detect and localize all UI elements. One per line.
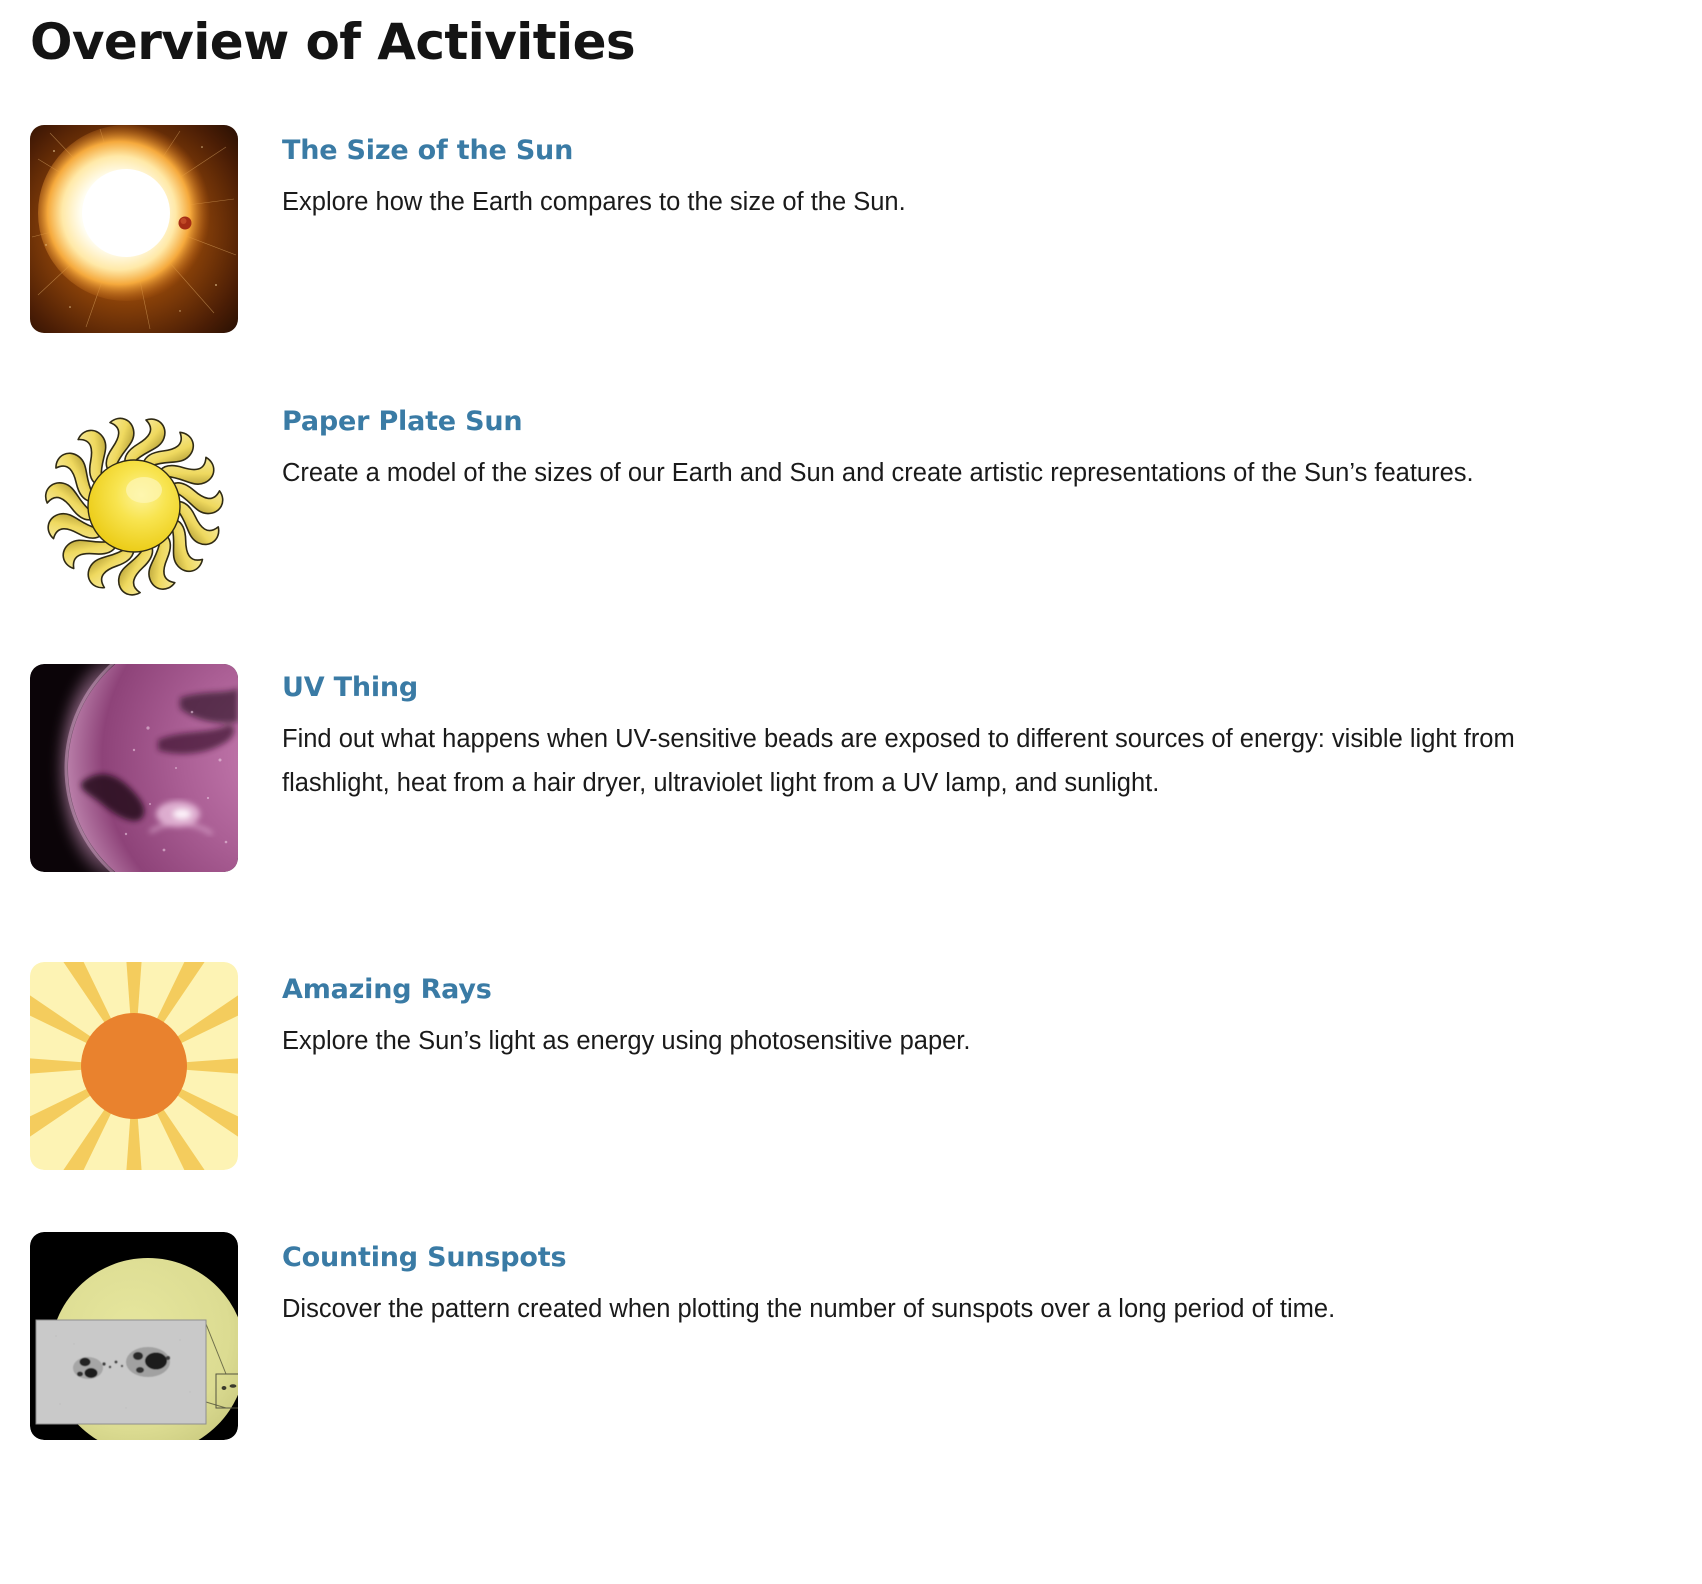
clipart-sun-with-wavy-rays-icon[interactable] xyxy=(30,394,238,602)
activity-title-link[interactable]: Paper Plate Sun xyxy=(282,406,1522,438)
activity-text-cell: Amazing Rays Explore the Sun’s light as … xyxy=(282,962,1702,1064)
activity-thumbnail-cell xyxy=(30,125,282,333)
activity-thumbnail-cell xyxy=(30,664,282,872)
activity-title-link[interactable]: UV Thing xyxy=(282,672,1522,704)
activity-text-cell: Paper Plate Sun Create a model of the si… xyxy=(282,394,1702,496)
activity-description: Explore how the Earth compares to the si… xyxy=(282,181,1522,225)
ultraviolet-sun-limb-photo-icon[interactable] xyxy=(30,664,238,872)
activities-overview-page: Overview of Activities xyxy=(0,0,1702,1584)
sunspots-with-magnified-inset-photo-icon[interactable] xyxy=(30,1232,238,1440)
activity-title-link[interactable]: Counting Sunspots xyxy=(282,1242,1522,1274)
activity-title-link[interactable]: Amazing Rays xyxy=(282,974,1522,1006)
flat-sunburst-illustration-icon[interactable] xyxy=(30,962,238,1170)
activity-text-cell: The Size of the Sun Explore how the Eart… xyxy=(282,125,1702,225)
activity-item[interactable]: Counting Sunspots Discover the pattern c… xyxy=(0,1232,1702,1440)
activity-text-cell: UV Thing Find out what happens when UV-s… xyxy=(282,664,1702,806)
activity-description: Find out what happens when UV-sensitive … xyxy=(282,718,1522,806)
activity-description: Discover the pattern created when plotti… xyxy=(282,1288,1522,1332)
activity-item[interactable]: The Size of the Sun Explore how the Eart… xyxy=(0,125,1702,333)
activity-description: Explore the Sun’s light as energy using … xyxy=(282,1020,1522,1064)
activity-text-cell: Counting Sunspots Discover the pattern c… xyxy=(282,1232,1702,1332)
activity-item[interactable]: Amazing Rays Explore the Sun’s light as … xyxy=(0,962,1702,1170)
activity-item[interactable]: Paper Plate Sun Create a model of the si… xyxy=(0,394,1702,602)
activity-description: Create a model of the sizes of our Earth… xyxy=(282,452,1522,496)
activity-title-link[interactable]: The Size of the Sun xyxy=(282,135,1522,167)
page-title: Overview of Activities xyxy=(0,0,1702,72)
activity-thumbnail-cell xyxy=(30,1232,282,1440)
activity-thumbnail-cell xyxy=(30,962,282,1170)
sun-with-earth-transit-photo-icon[interactable] xyxy=(30,125,238,333)
activity-item[interactable]: UV Thing Find out what happens when UV-s… xyxy=(0,664,1702,872)
activity-thumbnail-cell xyxy=(30,394,282,602)
